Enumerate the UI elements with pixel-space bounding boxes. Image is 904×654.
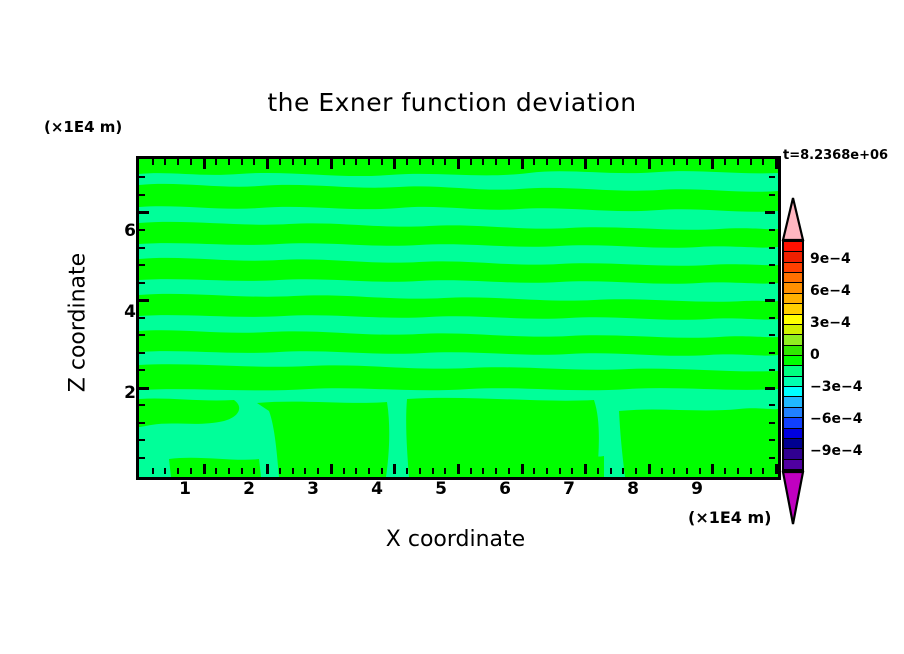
colorbar-over-arrow bbox=[780, 196, 806, 242]
x-tick bbox=[419, 468, 421, 474]
x-tick bbox=[215, 468, 217, 474]
x-tick-label-6: 6 bbox=[485, 479, 525, 499]
x-tick bbox=[610, 468, 612, 474]
y-tick-right bbox=[765, 387, 775, 390]
colorbar-label-0: 9e−4 bbox=[810, 251, 851, 267]
x-tick bbox=[597, 468, 599, 474]
y-tick-right bbox=[769, 317, 775, 319]
y-tick-right bbox=[769, 369, 775, 371]
y-axis-unit-label: (×1E4 m) bbox=[44, 118, 122, 136]
x-tick-top bbox=[597, 159, 599, 165]
x-tick-top bbox=[533, 159, 535, 165]
x-tick-top bbox=[482, 159, 484, 165]
y-tick-right bbox=[769, 176, 775, 178]
x-tick-top bbox=[393, 159, 396, 169]
x-tick bbox=[711, 464, 714, 474]
x-axis-unit-label: (×1E4 m) bbox=[688, 508, 771, 527]
x-tick-top bbox=[470, 159, 472, 165]
x-tick bbox=[152, 468, 154, 474]
x-tick bbox=[546, 468, 548, 474]
x-tick-top bbox=[750, 159, 752, 165]
x-tick bbox=[406, 468, 408, 474]
y-tick-right bbox=[769, 247, 775, 249]
x-tick bbox=[648, 464, 651, 474]
x-tick bbox=[622, 468, 624, 474]
y-tick bbox=[139, 387, 149, 390]
x-tick-top bbox=[622, 159, 624, 165]
y-tick bbox=[139, 352, 145, 354]
x-tick-top bbox=[724, 159, 726, 165]
x-tick-top bbox=[711, 159, 714, 169]
x-tick-top bbox=[292, 159, 294, 165]
x-tick bbox=[470, 468, 472, 474]
x-tick-top bbox=[584, 159, 587, 169]
y-tick-right bbox=[769, 194, 775, 196]
figure-canvas: the Exner function deviation (×1E4 m) t=… bbox=[0, 0, 904, 654]
plot-area bbox=[136, 156, 781, 480]
x-tick-top bbox=[152, 159, 154, 165]
x-tick-top bbox=[775, 159, 778, 169]
x-tick-top bbox=[546, 159, 548, 165]
x-tick-top bbox=[508, 159, 510, 165]
chart-title: the Exner function deviation bbox=[0, 88, 904, 117]
x-tick bbox=[571, 468, 573, 474]
x-tick bbox=[355, 468, 357, 474]
x-tick bbox=[737, 468, 739, 474]
x-tick-top bbox=[635, 159, 637, 165]
x-tick-label-4: 4 bbox=[357, 479, 397, 499]
x-tick-top bbox=[457, 159, 460, 169]
x-tick bbox=[699, 468, 701, 474]
x-tick bbox=[241, 468, 243, 474]
y-tick-right bbox=[769, 439, 775, 441]
x-tick bbox=[368, 468, 370, 474]
x-tick bbox=[762, 468, 764, 474]
x-tick bbox=[304, 468, 306, 474]
colorbar-label-6: −9e−4 bbox=[810, 443, 862, 459]
colorbar-label-2: 3e−4 bbox=[810, 315, 851, 331]
colorbar-label-4: −3e−4 bbox=[810, 379, 862, 395]
x-tick bbox=[673, 468, 675, 474]
x-tick-top bbox=[304, 159, 306, 165]
x-tick-top bbox=[368, 159, 370, 165]
x-tick bbox=[508, 468, 510, 474]
y-tick bbox=[139, 264, 145, 266]
x-tick-top bbox=[241, 159, 243, 165]
x-tick bbox=[203, 464, 206, 474]
y-tick bbox=[139, 229, 145, 231]
x-tick-top bbox=[406, 159, 408, 165]
x-tick bbox=[317, 468, 319, 474]
x-tick-top bbox=[648, 159, 651, 169]
y-tick-right bbox=[769, 422, 775, 424]
x-tick bbox=[482, 468, 484, 474]
x-tick-top bbox=[571, 159, 573, 165]
y-tick bbox=[139, 247, 145, 249]
x-tick-top bbox=[495, 159, 497, 165]
x-tick bbox=[724, 468, 726, 474]
x-tick bbox=[381, 468, 383, 474]
x-tick-top bbox=[661, 159, 663, 165]
x-tick-top bbox=[190, 159, 192, 165]
x-tick bbox=[330, 464, 333, 474]
x-tick-top bbox=[737, 159, 739, 165]
x-tick bbox=[279, 468, 281, 474]
x-tick bbox=[432, 468, 434, 474]
colorbar-outline bbox=[782, 239, 804, 471]
y-tick bbox=[139, 422, 145, 424]
y-tick-right bbox=[769, 334, 775, 336]
x-tick bbox=[177, 468, 179, 474]
x-tick bbox=[635, 468, 637, 474]
contour-field-svg bbox=[139, 159, 778, 477]
x-tick bbox=[584, 464, 587, 474]
y-tick-label-4: 4 bbox=[106, 302, 136, 322]
x-tick bbox=[661, 468, 663, 474]
x-tick-top bbox=[355, 159, 357, 165]
contour-field bbox=[139, 159, 778, 477]
y-tick-right bbox=[769, 404, 775, 406]
x-tick-top bbox=[343, 159, 345, 165]
colorbar-label-1: 6e−4 bbox=[810, 283, 851, 299]
y-tick bbox=[139, 317, 145, 319]
x-tick-label-9: 9 bbox=[677, 479, 717, 499]
y-tick bbox=[139, 176, 145, 178]
x-tick-top bbox=[330, 159, 333, 169]
x-tick bbox=[266, 464, 269, 474]
x-axis-title: X coordinate bbox=[136, 527, 775, 552]
y-tick-right bbox=[769, 352, 775, 354]
x-tick-top bbox=[610, 159, 612, 165]
x-tick-top bbox=[215, 159, 217, 165]
y-tick-right bbox=[769, 457, 775, 459]
x-tick-top bbox=[699, 159, 701, 165]
y-tick bbox=[139, 334, 145, 336]
y-tick bbox=[139, 439, 145, 441]
colorbar[interactable]: 9e−46e−43e−40−3e−4−6e−4−9e−4 bbox=[780, 196, 806, 526]
x-tick-top bbox=[381, 159, 383, 165]
y-tick-label-6: 6 bbox=[106, 221, 136, 241]
y-tick bbox=[139, 282, 145, 284]
x-tick bbox=[559, 468, 561, 474]
x-tick-top bbox=[164, 159, 166, 165]
x-tick-top bbox=[762, 159, 764, 165]
colorbar-under-arrow bbox=[780, 470, 806, 526]
x-tick-top bbox=[203, 159, 206, 169]
x-tick bbox=[164, 468, 166, 474]
x-tick bbox=[495, 468, 497, 474]
x-tick bbox=[444, 468, 446, 474]
y-tick-label-2: 2 bbox=[106, 383, 136, 403]
x-tick bbox=[190, 468, 192, 474]
x-tick bbox=[292, 468, 294, 474]
x-tick-top bbox=[559, 159, 561, 165]
x-tick-top bbox=[317, 159, 319, 165]
x-tick-label-5: 5 bbox=[421, 479, 461, 499]
x-tick-top bbox=[673, 159, 675, 165]
x-tick-label-8: 8 bbox=[613, 479, 653, 499]
x-tick bbox=[521, 464, 524, 474]
y-tick bbox=[139, 211, 149, 214]
y-tick-right bbox=[769, 229, 775, 231]
y-tick-right bbox=[765, 211, 775, 214]
x-tick-top bbox=[228, 159, 230, 165]
x-tick bbox=[686, 468, 688, 474]
x-tick-label-1: 1 bbox=[165, 479, 205, 499]
x-tick bbox=[228, 468, 230, 474]
x-tick-top bbox=[432, 159, 434, 165]
y-tick bbox=[139, 194, 145, 196]
y-tick-right bbox=[769, 282, 775, 284]
y-tick bbox=[139, 299, 149, 302]
x-tick bbox=[343, 468, 345, 474]
colorbar-label-5: −6e−4 bbox=[810, 411, 862, 427]
x-tick bbox=[253, 468, 255, 474]
colorbar-label-3: 0 bbox=[810, 347, 820, 363]
x-tick bbox=[533, 468, 535, 474]
x-tick-label-7: 7 bbox=[549, 479, 589, 499]
x-tick-top bbox=[279, 159, 281, 165]
x-tick-top bbox=[444, 159, 446, 165]
x-tick-top bbox=[686, 159, 688, 165]
x-tick-top bbox=[521, 159, 524, 169]
timestamp-label: t=8.2368e+06 bbox=[783, 148, 888, 163]
x-tick-label-3: 3 bbox=[293, 479, 333, 499]
y-axis-title: Z coordinate bbox=[66, 223, 91, 423]
y-tick-right bbox=[769, 264, 775, 266]
y-tick bbox=[139, 369, 145, 371]
y-tick bbox=[139, 404, 145, 406]
y-tick-right bbox=[765, 299, 775, 302]
x-tick-top bbox=[419, 159, 421, 165]
x-tick bbox=[750, 468, 752, 474]
x-tick bbox=[393, 464, 396, 474]
x-tick-top bbox=[266, 159, 269, 169]
x-tick bbox=[457, 464, 460, 474]
x-tick-label-2: 2 bbox=[229, 479, 269, 499]
x-tick-top bbox=[177, 159, 179, 165]
x-tick-top bbox=[253, 159, 255, 165]
x-tick bbox=[775, 464, 778, 474]
y-tick bbox=[139, 457, 145, 459]
